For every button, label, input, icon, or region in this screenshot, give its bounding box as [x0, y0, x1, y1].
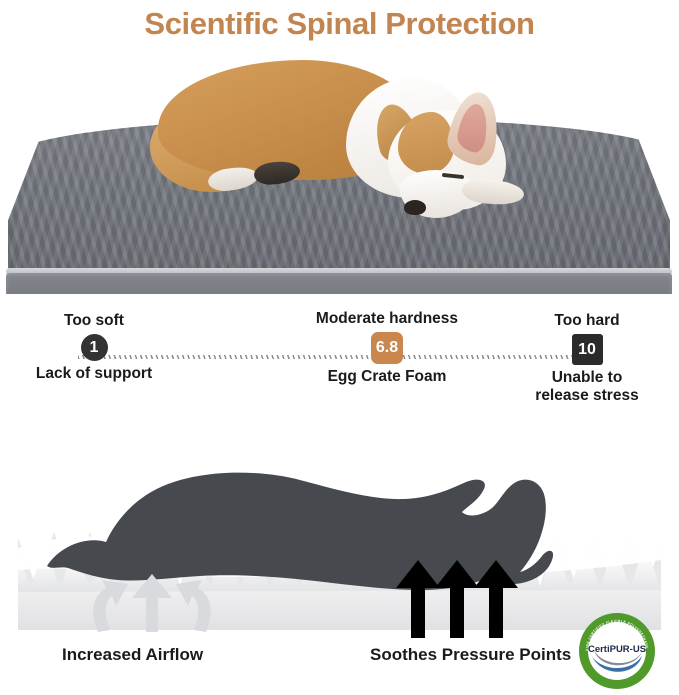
- scale-sublabel-lack-of-support: Lack of support: [6, 365, 182, 383]
- scale-label-too-soft: Too soft: [6, 312, 182, 330]
- corgi-dog-image: [150, 52, 530, 232]
- label-soothes-pressure-points: Soothes Pressure Points: [370, 645, 571, 665]
- scale-sublabel-unable-line1: Unable to: [497, 369, 677, 387]
- pressure-arrows: [396, 560, 518, 638]
- firmness-scale: Too soft 1 Lack of support Moderate hard…: [0, 300, 679, 418]
- certipur-us-svg: CertiPUR-US CONTAINS CERTIFIED FLEXIBLE …: [578, 612, 656, 690]
- dog-bed-front-face: [6, 273, 672, 294]
- scale-badge-68: 6.8: [371, 332, 403, 364]
- page-title-container: Scientific Spinal Protection: [0, 0, 679, 48]
- scale-badge-10: 10: [572, 334, 603, 365]
- infographic-page: Scientific Spinal Protection Too soft 1: [0, 0, 679, 691]
- scale-sublabel-egg-crate-foam: Egg Crate Foam: [291, 368, 483, 386]
- scale-label-moderate-hardness: Moderate hardness: [291, 310, 483, 328]
- scale-node-too-hard: Too hard 10 Unable to release stress: [497, 312, 677, 405]
- dog-silhouette: [47, 473, 553, 590]
- scale-label-too-hard: Too hard: [497, 312, 677, 330]
- scale-badge-1: 1: [81, 334, 108, 361]
- label-increased-airflow: Increased Airflow: [62, 645, 203, 665]
- certipur-center-text: CertiPUR-US: [588, 644, 646, 655]
- dog-nose: [404, 200, 426, 215]
- certipur-us-logo: CertiPUR-US CONTAINS CERTIFIED FLEXIBLE …: [578, 612, 656, 690]
- scale-node-moderate: Moderate hardness 6.8 Egg Crate Foam: [291, 310, 483, 386]
- page-title: Scientific Spinal Protection: [144, 6, 534, 42]
- hero-product-photo: [0, 46, 679, 294]
- scale-sublabel-unable-line2: release stress: [497, 387, 677, 405]
- scale-node-too-soft: Too soft 1 Lack of support: [6, 312, 182, 383]
